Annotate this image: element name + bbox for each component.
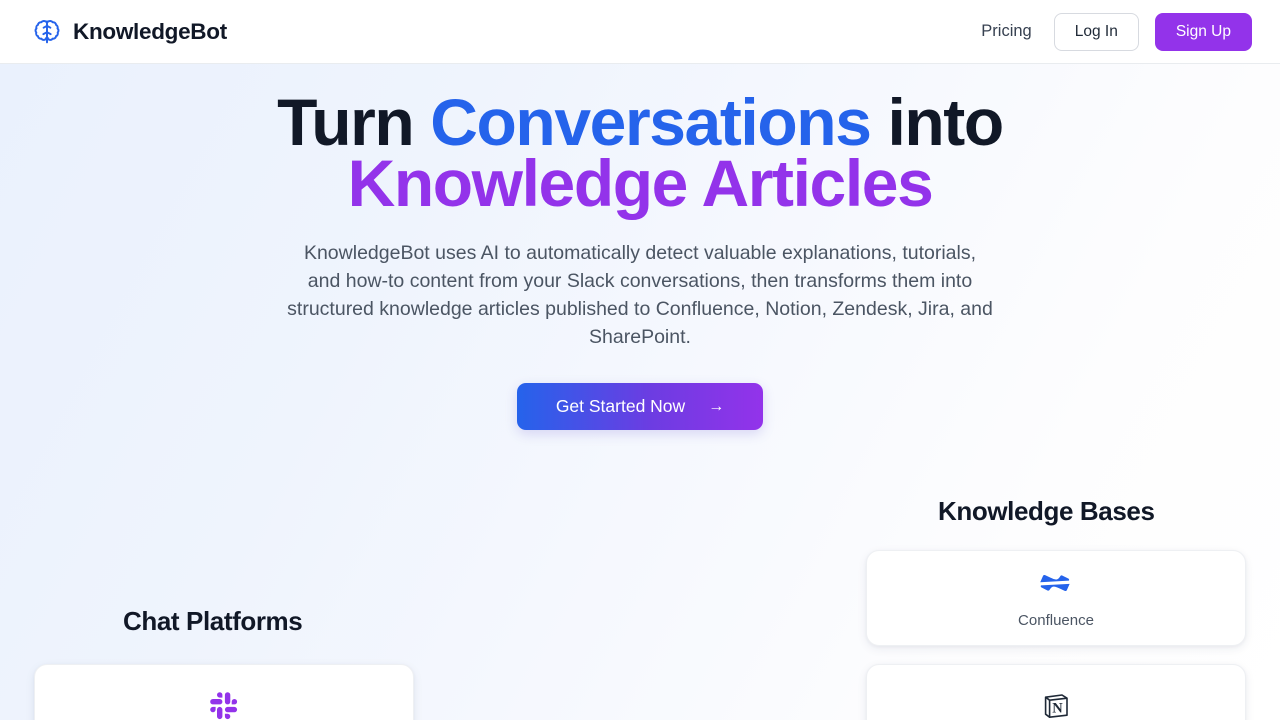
site-header: KnowledgeBot Pricing Log In Sign Up bbox=[0, 0, 1280, 64]
notion-logo-icon: N bbox=[1040, 690, 1072, 720]
signup-button[interactable]: Sign Up bbox=[1155, 13, 1252, 51]
brain-icon bbox=[32, 17, 62, 47]
hero-subtitle: KnowledgeBot uses AI to automatically de… bbox=[286, 239, 994, 351]
slack-logo-icon bbox=[208, 690, 240, 720]
integration-card-notion[interactable]: N bbox=[866, 664, 1246, 720]
page-title: Turn Conversations into Knowledge Articl… bbox=[0, 92, 1280, 213]
svg-text:N: N bbox=[1052, 701, 1063, 717]
integration-card-slack[interactable] bbox=[34, 664, 414, 720]
arrow-right-icon: → bbox=[708, 399, 724, 415]
integration-card-confluence[interactable]: Confluence bbox=[866, 550, 1246, 646]
cta-label: Get Started Now bbox=[556, 396, 685, 417]
knowledge-bases-heading: Knowledge Bases bbox=[938, 496, 1155, 527]
confluence-logo-icon bbox=[1040, 568, 1072, 600]
chat-platforms-heading: Chat Platforms bbox=[123, 606, 302, 637]
login-button[interactable]: Log In bbox=[1054, 13, 1139, 51]
header-nav: Pricing Log In Sign Up bbox=[975, 13, 1252, 51]
brand-name: KnowledgeBot bbox=[73, 19, 227, 45]
brand-logo[interactable]: KnowledgeBot bbox=[32, 17, 227, 47]
get-started-button[interactable]: Get Started Now → bbox=[517, 383, 763, 430]
landing-page: KnowledgeBot Pricing Log In Sign Up Turn… bbox=[0, 0, 1280, 720]
card-label: Confluence bbox=[1018, 612, 1094, 629]
nav-link-pricing[interactable]: Pricing bbox=[975, 18, 1037, 45]
heading-highlight-knowledge-articles: Knowledge Articles bbox=[0, 153, 1280, 213]
